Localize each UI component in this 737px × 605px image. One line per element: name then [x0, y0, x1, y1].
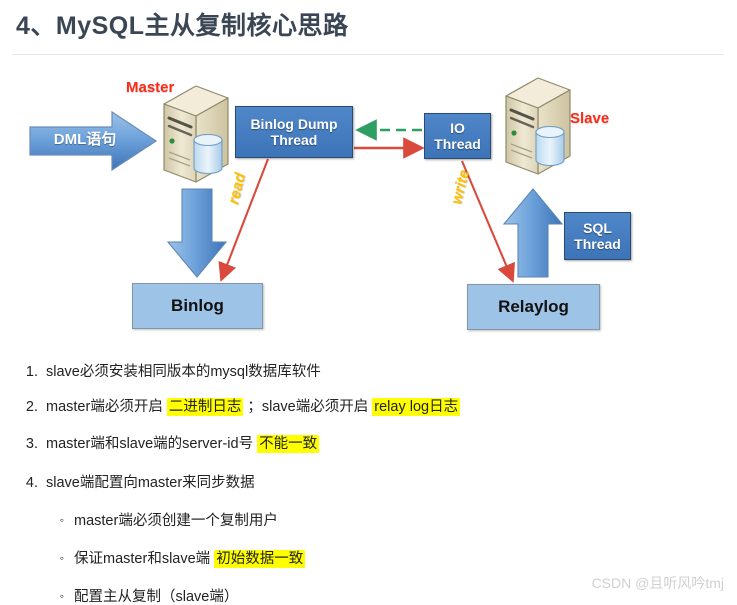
- plain-text: master端必须创建一个复制用户: [74, 513, 278, 529]
- plain-text: slave端配置向master来同步数据: [46, 475, 255, 491]
- sql-thread-line1: SQL: [583, 220, 612, 236]
- replication-diagram: DML语句: [0, 62, 737, 352]
- list-marker: ◦: [52, 590, 64, 602]
- list-marker: ◦: [52, 552, 64, 564]
- plain-text: ；slave端必须开启: [243, 399, 372, 415]
- list-item: 4.slave端配置向master来同步数据: [16, 476, 255, 491]
- list-item: 2.master端必须开启 二进制日志 ；slave端必须开启 relay lo…: [16, 400, 460, 415]
- list-item-text: 保证master和slave端 初始数据一致: [74, 552, 305, 567]
- binlog-dump-thread-line1: Binlog Dump: [250, 116, 337, 132]
- plain-text: slave必须安装相同版本的mysql数据库软件: [46, 364, 321, 380]
- highlighted-text: 初始数据一致: [214, 550, 305, 568]
- sub-list-item: ◦master端必须创建一个复制用户: [52, 514, 278, 529]
- list-item: 3.master端和slave端的server-id号 不能一致: [16, 437, 319, 452]
- list-marker: 2.: [16, 400, 38, 415]
- list-item-text: master端必须创建一个复制用户: [74, 514, 278, 529]
- slave-server-icon: [492, 74, 578, 182]
- diagram-connectors: [0, 62, 737, 352]
- plain-text: 保证master和slave端: [74, 551, 214, 567]
- master-server-icon: [150, 82, 236, 190]
- list-item-text: slave必须安装相同版本的mysql数据库软件: [46, 365, 321, 380]
- binlog-dump-thread-line2: Thread: [271, 132, 318, 148]
- plain-text: master端必须开启: [46, 399, 167, 415]
- relaylog-box: Relaylog: [467, 284, 600, 330]
- title-divider: [12, 54, 724, 55]
- slave-label: Slave: [570, 110, 609, 127]
- plain-text: 配置主从复制（slave端）: [74, 589, 238, 605]
- list-marker: 3.: [16, 437, 38, 452]
- list-item: 1.slave必须安装相同版本的mysql数据库软件: [16, 365, 321, 380]
- write-label: write: [448, 168, 473, 206]
- binlog-dump-thread-box: Binlog Dump Thread: [235, 106, 353, 158]
- sub-list-item: ◦配置主从复制（slave端）: [52, 590, 238, 605]
- dml-arrow-label: DML语句: [42, 128, 128, 149]
- master-label: Master: [126, 79, 174, 96]
- highlighted-text: relay log日志: [372, 398, 460, 416]
- list-item-text: slave端配置向master来同步数据: [46, 476, 255, 491]
- list-marker: 4.: [16, 476, 38, 491]
- page-title: 4、MySQL主从复制核心思路: [16, 6, 349, 42]
- sub-list-item: ◦保证master和slave端 初始数据一致: [52, 552, 305, 567]
- list-item-text: master端和slave端的server-id号 不能一致: [46, 437, 319, 452]
- io-thread-line1: IO: [450, 120, 465, 136]
- csdn-watermark: CSDN @且听风吟tmj: [592, 573, 724, 593]
- io-thread-box: IO Thread: [424, 113, 491, 159]
- sql-thread-line2: Thread: [574, 236, 621, 252]
- sql-thread-box: SQL Thread: [564, 212, 631, 260]
- highlighted-text: 二进制日志: [167, 398, 244, 416]
- highlighted-text: 不能一致: [257, 435, 319, 453]
- list-marker: ◦: [52, 514, 64, 526]
- plain-text: master端和slave端的server-id号: [46, 436, 257, 452]
- list-item-text: master端必须开启 二进制日志 ；slave端必须开启 relay log日…: [46, 400, 460, 415]
- list-marker: 1.: [16, 365, 38, 380]
- binlog-box: Binlog: [132, 283, 263, 329]
- list-item-text: 配置主从复制（slave端）: [74, 590, 238, 605]
- io-thread-line2: Thread: [434, 136, 481, 152]
